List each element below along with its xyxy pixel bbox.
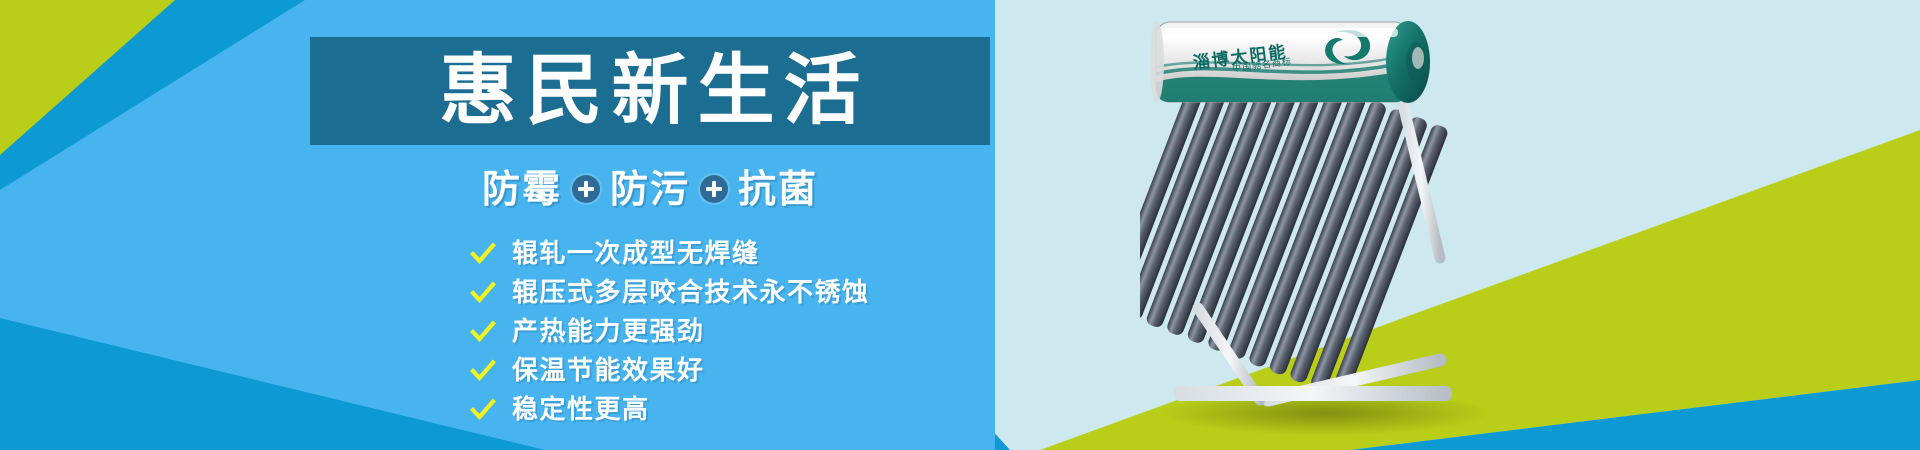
check-icon — [470, 397, 496, 423]
plus-badge-icon — [700, 175, 728, 203]
check-icon — [470, 358, 496, 384]
feature-label: 稳定性更高 — [512, 397, 650, 423]
feature-label: 辊轧一次成型无焊缝 — [512, 241, 760, 267]
check-icon — [470, 241, 496, 267]
check-icon — [470, 319, 496, 345]
water-tank — [1150, 21, 1430, 104]
feature-label: 产热能力更强劲 — [512, 319, 705, 345]
list-item: 保温节能效果好 — [470, 355, 870, 387]
feature-list: 辊轧一次成型无焊缝 辊压式多层咬合技术永不锈蚀 产热能力更强劲 — [470, 238, 870, 426]
subheadline-word-2: 防污 — [610, 170, 690, 208]
headline-box: 惠民新生活 — [310, 37, 990, 145]
subheadline: 防霉 防污 抗菌 — [310, 170, 990, 208]
feature-label: 保温节能效果好 — [512, 358, 705, 384]
check-icon — [470, 280, 496, 306]
page-title: 惠民新生活 — [431, 53, 870, 130]
base-rail — [1174, 386, 1452, 401]
list-item: 产热能力更强劲 — [470, 316, 870, 348]
promo-banner: 惠民新生活 防霉 防污 抗菌 辊轧一次成型无焊缝 辊压式多层咬合技术永不锈蚀 — [0, 0, 1920, 450]
list-item: 辊压式多层咬合技术永不锈蚀 — [470, 277, 870, 309]
product-image-solar-water-heater: 淄博太阳能 中国驰名商标 — [1140, 8, 1540, 438]
feature-label: 辊压式多层咬合技术永不锈蚀 — [512, 280, 870, 306]
subheadline-word-1: 防霉 — [482, 170, 562, 208]
list-item: 辊轧一次成型无焊缝 — [470, 238, 870, 270]
plus-badge-icon — [572, 175, 600, 203]
subheadline-word-3: 抗菌 — [738, 170, 818, 208]
list-item: 稳定性更高 — [470, 394, 870, 426]
